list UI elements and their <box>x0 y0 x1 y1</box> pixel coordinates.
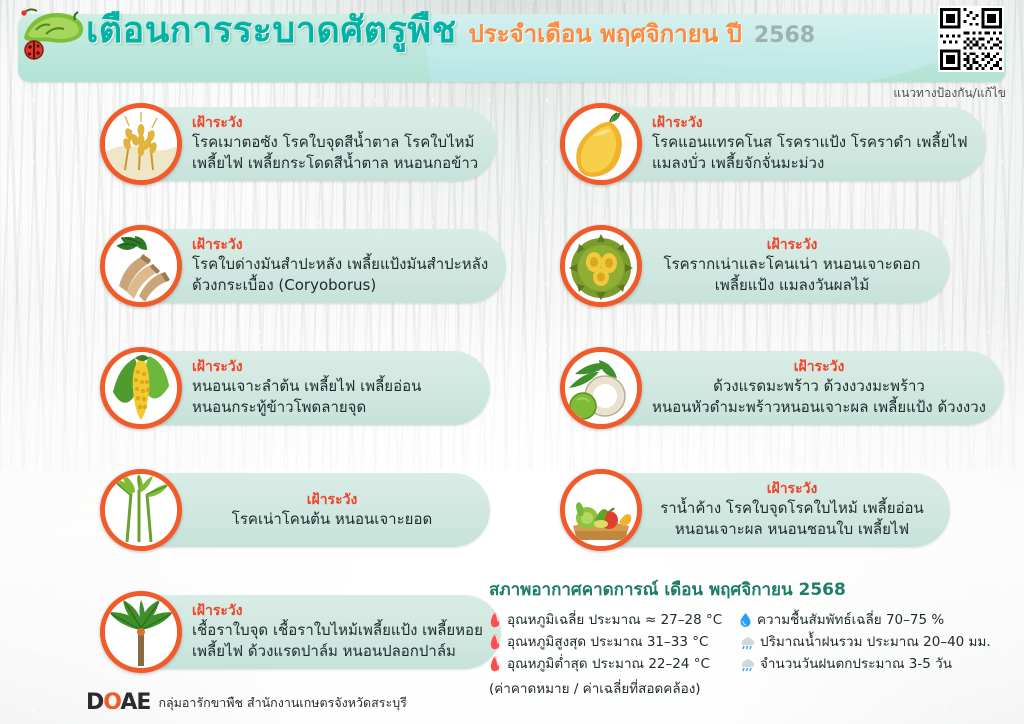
corn-icon <box>100 347 182 429</box>
weather-humidity: ความชื้นสัมพัทธ์เฉลี่ย 70–75 % <box>739 609 944 631</box>
card-sugarcane-body: เฝ้าระวัง โรคเน่าโคนต้น หนอนเจาะยอด <box>158 473 490 547</box>
footer: DOAE กลุ่มอารักขาพืช สำนักงานเกษตรจังหวั… <box>86 690 407 715</box>
card-vegetables-body: เฝ้าระวัง ราน้ำค้าง โรคใบจุดโรคใบไหม้ เพ… <box>618 473 950 547</box>
card-oil-palm: เฝ้าระวัง เชื้อราใบจุด เชื้อราใบไหม้เพลี… <box>100 588 490 676</box>
pest-list: ด้วงแรดมะพร้าว ด้วงงวงมะพร้าว หนอนหัวดำม… <box>652 376 986 418</box>
thermometer-icon <box>489 656 502 672</box>
watch-label: เฝ้าระวัง <box>192 358 472 376</box>
weather-rain-days: จำนวนวันฝนตกประมาณ 3-5 วัน <box>739 653 952 675</box>
thermometer-icon <box>489 634 502 650</box>
pest-list: โรครากเน่าและโคนเน่า หนอนเจาะดอก เพลี้ยแ… <box>652 254 932 296</box>
pest-list: ราน้ำค้าง โรคใบจุดโรคใบไหม้ เพลี้ยอ่อน ห… <box>652 498 932 540</box>
page-title: เตือนการระบาดศัตรูพืช ประจำเดือน พฤศจิกา… <box>86 8 815 54</box>
card-oil-palm-body: เฝ้าระวัง เชื้อราใบจุด เชื้อราใบไหม้เพลี… <box>158 595 501 669</box>
watch-label: เฝ้าระวัง <box>652 480 932 498</box>
watch-label: เฝ้าระวัง <box>652 114 968 132</box>
weather-forecast-panel: สภาพอากาศคาดการณ์ เดือน พฤศจิกายน 2568 อ… <box>489 576 1009 694</box>
pest-list: หนอนเจาะลำต้น เพลี้ยไฟ เพลี้ยอ่อน หนอนกร… <box>192 376 472 418</box>
pest-list: โรคใบด่างมันสำปะหลัง เพลี้ยแป้งมันสำปะหล… <box>192 254 488 296</box>
card-cassava-body: เฝ้าระวัง โรคใบด่างมันสำปะหลัง เพลี้ยแป้… <box>158 229 506 303</box>
coconut-icon <box>560 347 642 429</box>
weather-title: สภาพอากาศคาดการณ์ เดือน พฤศจิกายน 2568 <box>489 576 1009 603</box>
watch-label: เฝ้าระวัง <box>192 602 483 620</box>
rain-cloud-icon <box>739 656 755 672</box>
doae-logo: DOAE <box>86 690 150 715</box>
cassava-icon <box>100 225 182 307</box>
card-rice: เฝ้าระวัง โรคเมาตอซัง โรคใบจุดสีน้ำตาล โ… <box>100 100 490 188</box>
footer-text: กลุ่มอารักขาพืช สำนักงานเกษตรจังหวัดสระบ… <box>158 693 406 713</box>
pest-list: โรคเมาตอซัง โรคใบจุดสีน้ำตาล โรคใบไหม้ เ… <box>192 132 478 174</box>
pest-list: โรคแอนแทรคโนส โรคราแป้ง โรคราดำ เพลี้ยไฟ… <box>652 132 968 174</box>
watch-label: เฝ้าระวัง <box>192 114 478 132</box>
weather-row: อุณหภูมิเฉลี่ย ประมาณ ≈ 27–28 °C ความชื้… <box>489 609 1009 631</box>
vegetables-icon <box>560 469 642 551</box>
humidity-drop-icon <box>739 612 752 628</box>
card-coconut-body: เฝ้าระวัง ด้วงแรดมะพร้าว ด้วงงวงมะพร้าว … <box>618 351 1004 425</box>
card-rice-body: เฝ้าระวัง โรคเมาตอซัง โรคใบจุดสีน้ำตาล โ… <box>158 107 496 181</box>
card-durian: เฝ้าระวัง โรครากเน่าและโคนเน่า หนอนเจาะด… <box>560 222 950 310</box>
thermometer-icon <box>489 612 502 628</box>
pest-list: โรคเน่าโคนต้น หนอนเจาะยอด <box>192 509 472 530</box>
watch-label: เฝ้าระวัง <box>652 236 932 254</box>
card-mango: เฝ้าระวัง โรคแอนแทรคโนส โรคราแป้ง โรคราด… <box>560 100 950 188</box>
weather-temp-min: อุณหภูมิต่ำสุด ประมาณ 22–24 °C <box>489 653 739 675</box>
sugarcane-icon <box>100 469 182 551</box>
weather-row: อุณหภูมิสูงสุด ประมาณ 31–33 °C ปริมาณน้ำ… <box>489 631 1009 653</box>
pest-list: เชื้อราใบจุด เชื้อราใบไหม้เพลี้ยแป้ง เพล… <box>192 620 483 662</box>
page-title-sub: ประจำเดือน พฤศจิกายน ปี <box>469 14 742 53</box>
weather-temp-max: อุณหภูมิสูงสุด ประมาณ 31–33 °C <box>489 631 739 653</box>
watch-label: เฝ้าระวัง <box>652 358 986 376</box>
card-mango-body: เฝ้าระวัง โรคแอนแทรคโนส โรคราแป้ง โรคราด… <box>618 107 986 181</box>
page-title-year: 2568 <box>754 23 815 48</box>
card-vegetables: เฝ้าระวัง ราน้ำค้าง โรคใบจุดโรคใบไหม้ เพ… <box>560 466 950 554</box>
qr-code-icon[interactable] <box>938 6 1004 72</box>
watch-label: เฝ้าระวัง <box>192 236 488 254</box>
weather-row: อุณหภูมิต่ำสุด ประมาณ 22–24 °C จำนวนวันฝ… <box>489 653 1009 675</box>
weather-rain-total: ปริมาณน้ำฝนรวม ประมาณ 20–40 มม. <box>739 631 991 653</box>
card-cassava: เฝ้าระวัง โรคใบด่างมันสำปะหลัง เพลี้ยแป้… <box>100 222 490 310</box>
watch-label: เฝ้าระวัง <box>192 491 472 509</box>
card-corn: เฝ้าระวัง หนอนเจาะลำต้น เพลี้ยไฟ เพลี้ยอ… <box>100 344 490 432</box>
card-corn-body: เฝ้าระวัง หนอนเจาะลำต้น เพลี้ยไฟ เพลี้ยอ… <box>158 351 490 425</box>
mango-icon <box>560 103 642 185</box>
card-durian-body: เฝ้าระวัง โรครากเน่าและโคนเน่า หนอนเจาะด… <box>618 229 950 303</box>
weather-note: (ค่าคาดหมาย / ค่าเฉลี่ยที่สอดคล้อง) <box>489 677 1009 699</box>
card-coconut: เฝ้าระวัง ด้วงแรดมะพร้าว ด้วงงวงมะพร้าว … <box>560 344 950 432</box>
rice-icon <box>100 103 182 185</box>
oil-palm-icon <box>100 591 182 673</box>
card-sugarcane: เฝ้าระวัง โรคเน่าโคนต้น หนอนเจาะยอด <box>100 466 490 554</box>
weather-temp-avg: อุณหภูมิเฉลี่ย ประมาณ ≈ 27–28 °C <box>489 609 739 631</box>
page-title-main: เตือนการระบาดศัตรูพืช <box>86 8 457 54</box>
insect-mascot-icon <box>18 4 88 66</box>
durian-icon <box>560 225 642 307</box>
rain-cloud-icon <box>739 634 755 650</box>
